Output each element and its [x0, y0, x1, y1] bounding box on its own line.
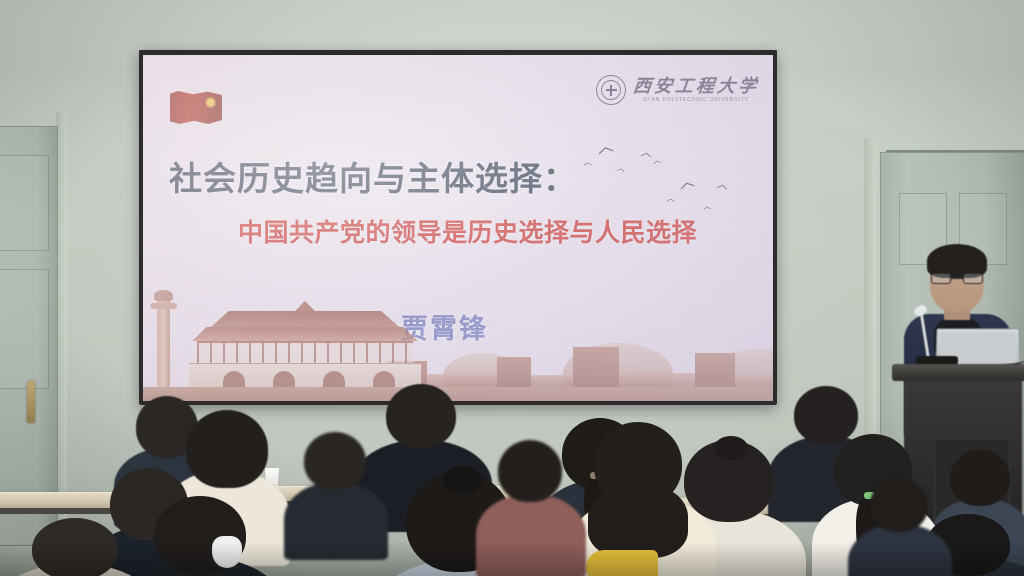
- person-head: [32, 518, 118, 576]
- great-wall-segment: [531, 375, 573, 387]
- person-head: [186, 410, 268, 488]
- gate-arch: [373, 371, 395, 387]
- slide-title: 社会历史趋向与主体选择：: [169, 152, 577, 200]
- slide-illustration: [143, 281, 773, 401]
- gate-wall: [189, 363, 421, 387]
- colonnade: [197, 341, 413, 363]
- university-name-cn: 西安工程大学: [632, 78, 760, 96]
- person-torso: [476, 494, 586, 576]
- flying-birds-group: ︿ ︿ ︿ ︿ ︿ ︿ ︿ ︿ ︿: [579, 133, 759, 223]
- bird-icon: ︿: [596, 138, 615, 157]
- projection-screen[interactable]: 西安工程大学 XI'AN POLYTECHNIC UNIVERSITY ︿ ︿ …: [143, 55, 773, 401]
- person-head: [794, 386, 858, 444]
- bird-icon: ︿: [677, 173, 695, 191]
- bird-icon: ︿: [640, 146, 652, 158]
- great-wall-tower: [573, 347, 619, 387]
- chinese-flag-icon: [170, 91, 222, 124]
- bird-icon: ︿: [616, 164, 625, 173]
- flag-star-icon: [205, 97, 216, 108]
- university-seal-icon: [596, 75, 626, 105]
- person-head: [498, 440, 562, 502]
- great-wall-segment: [735, 375, 773, 387]
- hair-bun: [442, 466, 482, 494]
- lecture-hall-photo: 西安工程大学 XI'AN POLYTECHNIC UNIVERSITY ︿ ︿ …: [0, 0, 1024, 576]
- great-wall-tower: [695, 353, 735, 387]
- person-head: [950, 450, 1010, 506]
- flag-cloth: [170, 91, 222, 124]
- great-wall-segment: [619, 373, 695, 387]
- bird-icon: ︿: [716, 178, 728, 190]
- ground-band: [143, 387, 773, 401]
- person-head: [304, 432, 366, 490]
- university-name-en: XI'AN POLYTECHNIC UNIVERSITY: [633, 97, 759, 103]
- lower-roof: [185, 327, 425, 341]
- long-hair: [588, 484, 688, 558]
- hair-bun: [714, 436, 748, 460]
- gate-arch: [273, 371, 295, 387]
- bird-icon: ︿: [667, 195, 676, 204]
- university-logo: 西安工程大学 XI'AN POLYTECHNIC UNIVERSITY: [596, 75, 759, 105]
- bird-icon: ︿: [652, 156, 661, 165]
- face-mask: [212, 536, 242, 568]
- university-name-block: 西安工程大学 XI'AN POLYTECHNIC UNIVERSITY: [633, 78, 759, 103]
- bird-icon: ︿: [583, 159, 593, 169]
- huabiao-column: [157, 299, 170, 387]
- gate-arch: [223, 371, 245, 387]
- glasses-lens: [963, 273, 983, 284]
- seal-mark-icon: [606, 85, 617, 96]
- glasses-bridge: [951, 277, 963, 279]
- glasses-lens: [931, 273, 951, 284]
- great-wall-tower: [497, 357, 531, 387]
- projection-screen-frame: 西安工程大学 XI'AN POLYTECHNIC UNIVERSITY ︿ ︿ …: [139, 50, 777, 405]
- bird-icon: ︿: [703, 203, 712, 212]
- podium-top: [892, 364, 1024, 381]
- person-torso: [284, 482, 388, 560]
- gate-arch: [323, 371, 345, 387]
- glasses-icon: [931, 273, 983, 284]
- yellow-scarf: [586, 550, 658, 576]
- great-wall-segment: [427, 374, 497, 387]
- slide-subtitle: 中国共产党的领导是历史选择与人民选择: [238, 213, 697, 249]
- person-head: [386, 384, 456, 448]
- tiananmen-gate: [185, 295, 425, 387]
- person-head: [870, 478, 928, 532]
